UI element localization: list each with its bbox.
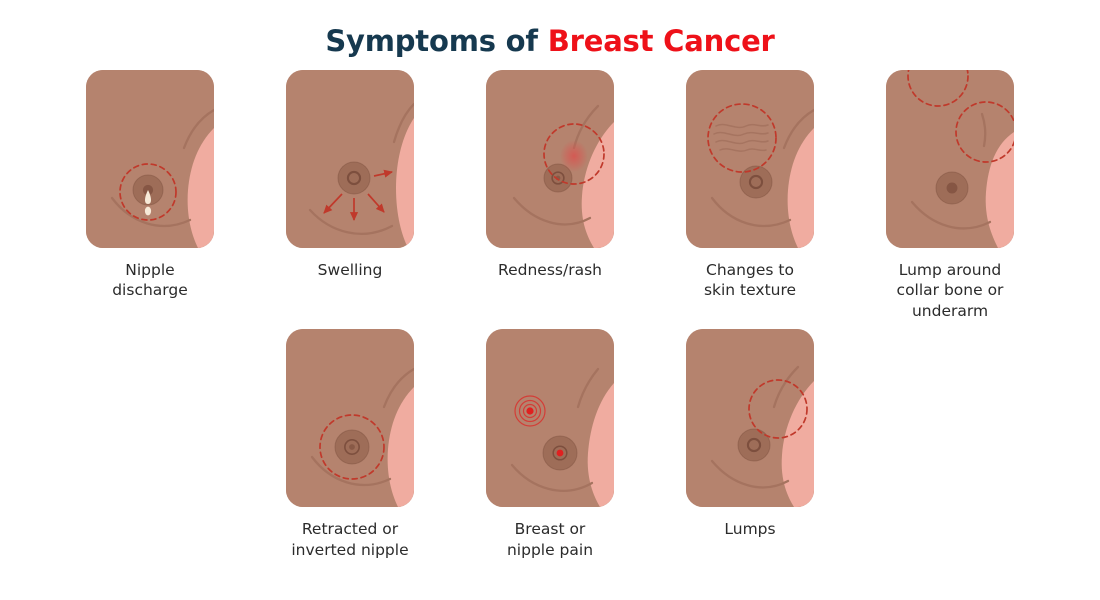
symptom-illustration-inverted-nipple: [286, 329, 414, 507]
symptom-card-lumps: Lumps: [683, 329, 817, 539]
symptom-label-lump-collar-bone: Lump around collar bone or underarm: [864, 260, 1036, 321]
symptom-card-lump-collar-bone: Lump around collar bone or underarm: [883, 70, 1017, 321]
symptom-row-bottom: Retracted or inverted nipple Breast or n…: [0, 329, 1100, 560]
symptom-label-skin-texture: Changes to skin texture: [704, 260, 796, 301]
symptom-label-breast-pain: Breast or nipple pain: [507, 519, 593, 560]
symptom-card-redness-rash: Redness/rash: [483, 70, 617, 280]
symptom-illustration-redness-rash: [486, 70, 614, 248]
symptom-card-inverted-nipple: Retracted or inverted nipple: [283, 329, 417, 560]
symptom-label-lumps: Lumps: [724, 519, 775, 539]
symptom-label-swelling: Swelling: [318, 260, 383, 280]
page-title: Symptoms of Breast Cancer: [0, 26, 1100, 58]
symptom-card-skin-texture: Changes to skin texture: [683, 70, 817, 301]
symptom-label-nipple-discharge: Nipple discharge: [112, 260, 188, 301]
symptom-card-breast-pain: Breast or nipple pain: [483, 329, 617, 560]
symptom-illustration-swelling: [286, 70, 414, 248]
symptom-illustration-lumps: [686, 329, 814, 507]
symptom-label-inverted-nipple: Retracted or inverted nipple: [291, 519, 408, 560]
title-bar: Symptoms of Breast Cancer: [0, 0, 1100, 58]
symptom-illustration-breast-pain: [486, 329, 614, 507]
symptom-row-top: Nipple discharge Swelling: [0, 70, 1100, 321]
symptom-label-redness-rash: Redness/rash: [498, 260, 602, 280]
symptom-illustration-skin-texture: [686, 70, 814, 248]
symptom-illustration-lump-collar-bone: [886, 70, 1014, 248]
symptom-card-nipple-discharge: Nipple discharge: [83, 70, 217, 301]
symptom-illustration-nipple-discharge: [86, 70, 214, 248]
page-title-accent: Breast Cancer: [548, 24, 775, 58]
page-title-main: Symptoms of: [325, 24, 547, 58]
symptom-card-swelling: Swelling: [283, 70, 417, 280]
